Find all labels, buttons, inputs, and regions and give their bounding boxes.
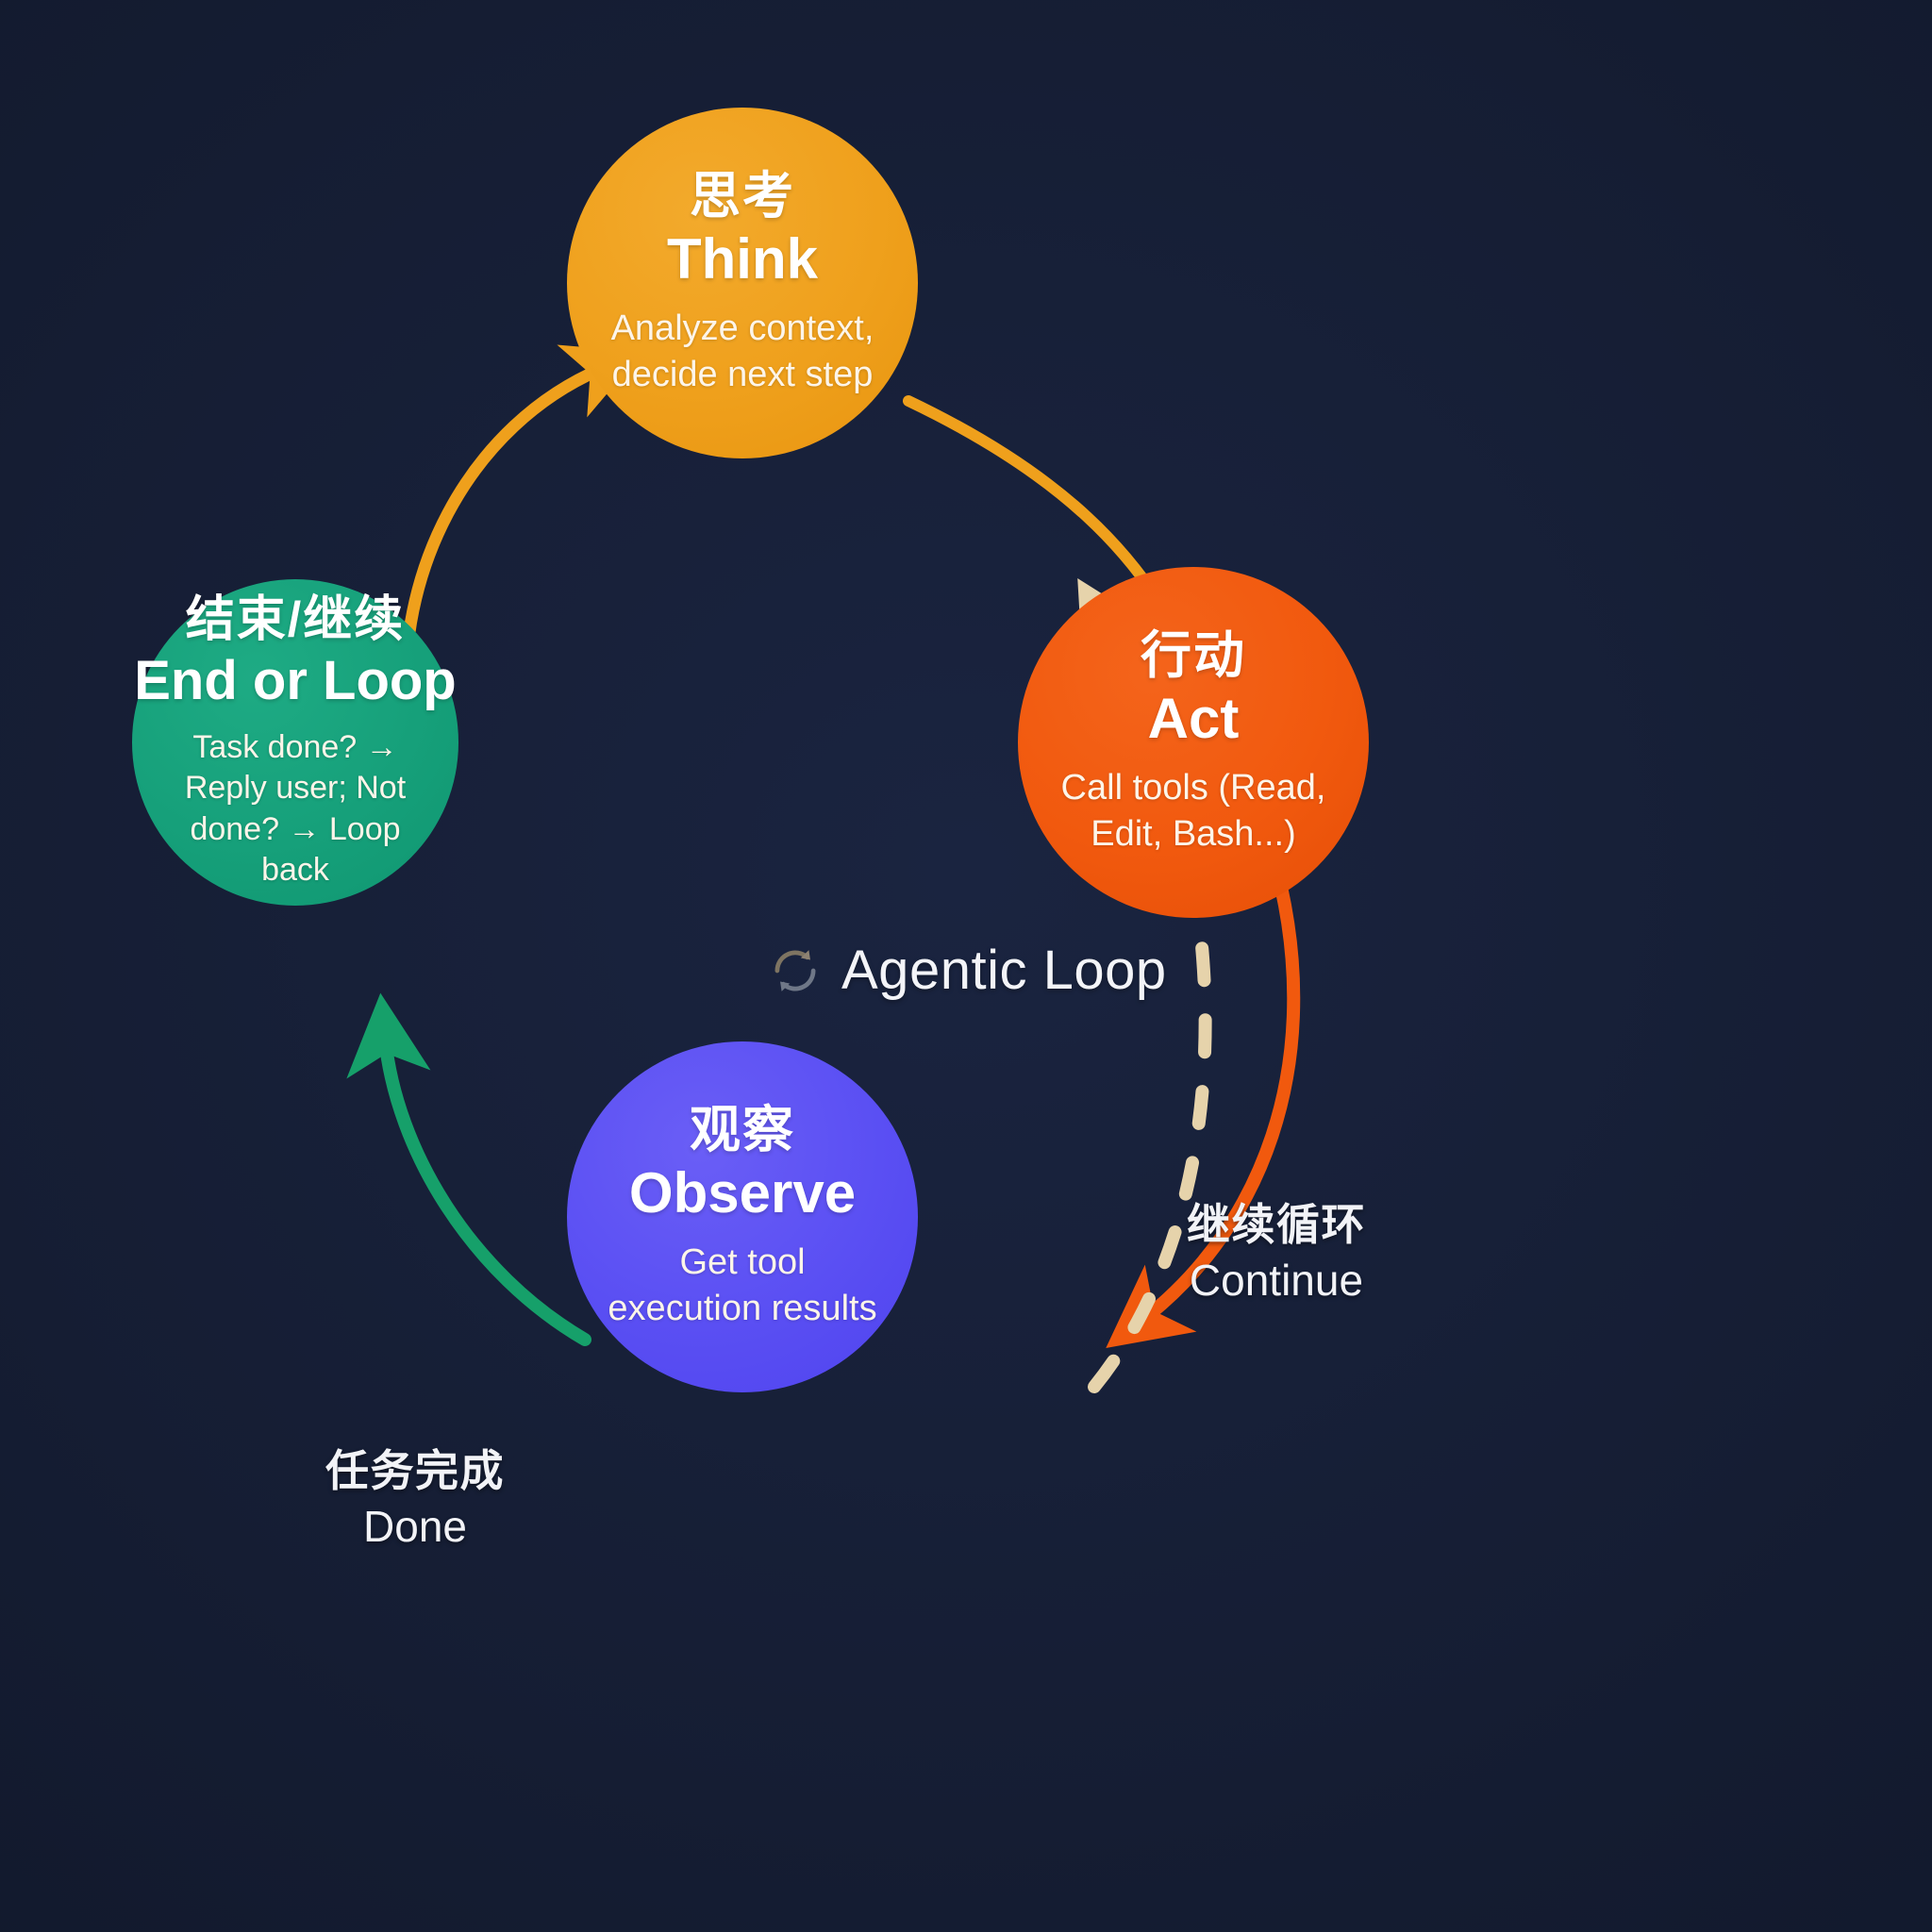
node-end-or-loop-desc: Task done? → Reply user; Not done? → Loo… [157, 727, 434, 891]
edge-label-continue-en: Continue [1187, 1256, 1366, 1306]
center-loop-label: Agentic Loop [770, 939, 1167, 1002]
node-end-or-loop-cn: 结束/继续 [186, 593, 405, 646]
node-think-en: Think [667, 227, 818, 291]
node-think[interactable]: 思考 Think Analyze context, decide next st… [567, 108, 918, 458]
node-think-cn: 思考 [690, 169, 795, 224]
node-act[interactable]: 行动 Act Call tools (Read, Edit, Bash...) [1018, 567, 1369, 918]
node-end-or-loop[interactable]: 结束/继续 End or Loop Task done? → Reply use… [132, 579, 458, 906]
loop-arrows-icon [770, 945, 821, 996]
edge-label-done-en: Done [325, 1502, 505, 1552]
node-observe[interactable]: 观察 Observe Get tool execution results [567, 1041, 918, 1392]
node-think-desc: Analyze context, decide next step [601, 306, 884, 397]
node-act-cn: 行动 [1141, 628, 1246, 683]
center-loop-text: Agentic Loop [841, 939, 1167, 1002]
node-observe-en: Observe [629, 1161, 856, 1224]
node-end-or-loop-en: End or Loop [134, 651, 457, 712]
node-act-desc: Call tools (Read, Edit, Bash...) [1057, 765, 1330, 857]
diagram-canvas: 思考 Think Analyze context, decide next st… [0, 0, 1932, 1932]
edge-label-continue-cn: 继续循环 [1187, 1200, 1366, 1250]
edge-observe-to-endloop [385, 1038, 585, 1340]
edge-label-done: 任务完成 Done [325, 1446, 505, 1553]
edge-label-done-cn: 任务完成 [325, 1446, 505, 1496]
node-observe-desc: Get tool execution results [601, 1240, 884, 1331]
node-observe-cn: 观察 [690, 1103, 795, 1158]
edge-label-continue: 继续循环 Continue [1187, 1200, 1366, 1307]
node-act-en: Act [1148, 687, 1240, 750]
